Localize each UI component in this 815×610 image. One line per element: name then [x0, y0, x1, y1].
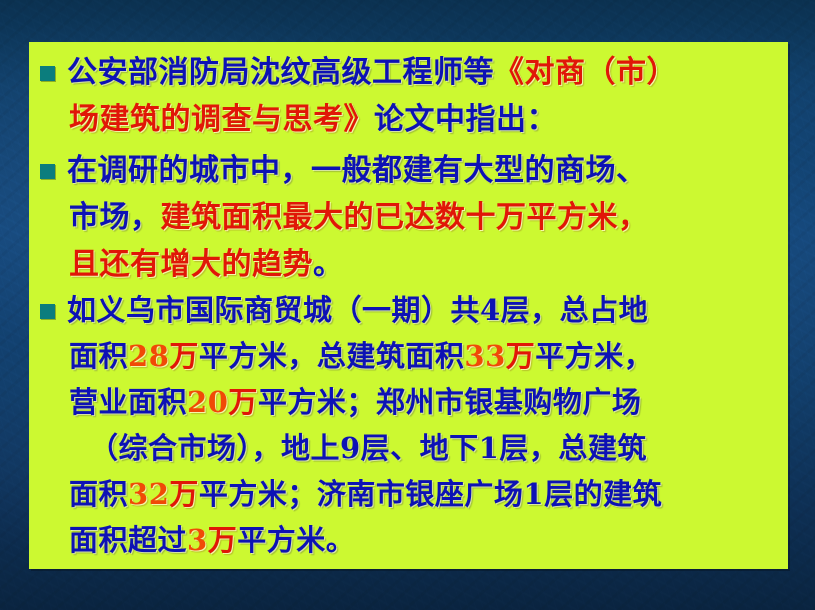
- bullet-paragraph: 公安部消防局沈纹高级工程师等《对商（市）场建筑的调查与思考》论文中指出：: [40, 49, 778, 143]
- paragraph-body: 如义乌市国际商贸城（一期）共4层，总占地面积28万平方米，总建筑面积33万平方米…: [67, 287, 778, 563]
- text-run-blue: 平方米；郑州市银基购物广场: [258, 385, 642, 419]
- paragraph-line: 营业面积20万平方米；郑州市银基购物广场: [67, 379, 778, 425]
- bullet-paragraph: 在调研的城市中，一般都建有大型的商场、市场，建筑面积最大的已达数十万平方米，且还…: [40, 147, 778, 288]
- text-run-orange: 33: [464, 339, 505, 373]
- bullet-paragraph: 如义乌市国际商贸城（一期）共4层，总占地面积28万平方米，总建筑面积33万平方米…: [40, 287, 778, 563]
- text-run-blue: 面积超过: [69, 523, 187, 557]
- paragraph-line: 且还有增大的趋势。: [67, 241, 778, 288]
- text-run-red: 《对商（市）: [494, 55, 677, 90]
- paragraph-line: 如义乌市国际商贸城（一期）共4层，总占地: [67, 287, 778, 333]
- text-run-red: 建筑面积最大的已达数十万平方米，: [161, 200, 649, 235]
- text-run-blue: 公安部消防局沈纹高级工程师等: [67, 55, 494, 90]
- paragraph-line: 面积32万平方米；济南市银座广场1层的建筑: [67, 471, 778, 517]
- paragraph-line: 场建筑的调查与思考》论文中指出：: [67, 96, 778, 143]
- paragraph-line: 在调研的城市中，一般都建有大型的商场、: [67, 147, 778, 194]
- text-run-blue: 平方米，: [535, 339, 653, 373]
- text-run-blue: 平方米；济南市银座广场1层的建筑: [199, 477, 662, 511]
- square-bullet-icon: [40, 164, 55, 179]
- text-run-orange: 32: [128, 477, 169, 511]
- text-run-blue: （综合市场），地上9层、地下1层，总建筑: [89, 431, 647, 465]
- paragraph-line: 面积28万平方米，总建筑面积33万平方米，: [67, 333, 778, 379]
- text-run-blue: 平方米。: [237, 523, 355, 557]
- text-run-red: 场建筑的调查与思考》: [69, 102, 374, 137]
- text-run-blue: 市场，: [69, 200, 161, 235]
- text-run-orange: 3: [187, 523, 208, 557]
- text-run-red: 万: [208, 523, 238, 557]
- text-run-blue: 面积: [69, 477, 128, 511]
- paragraph-body: 在调研的城市中，一般都建有大型的商场、市场，建筑面积最大的已达数十万平方米，且还…: [67, 147, 778, 288]
- text-run-blue: 面积: [69, 339, 128, 373]
- text-run-blue: 。: [313, 247, 344, 282]
- text-run-orange: 28: [128, 339, 169, 373]
- text-run-blue: 在调研的城市中，一般都建有大型的商场、: [67, 153, 647, 188]
- paragraph-body: 公安部消防局沈纹高级工程师等《对商（市）场建筑的调查与思考》论文中指出：: [67, 49, 778, 143]
- slide-content-panel: 公安部消防局沈纹高级工程师等《对商（市）场建筑的调查与思考》论文中指出： 在调研…: [29, 42, 788, 569]
- square-bullet-icon: [40, 304, 55, 319]
- text-run-blue: 如义乌市国际商贸城（一期）共4层，总占地: [67, 293, 648, 327]
- paragraph-line: 市场，建筑面积最大的已达数十万平方米，: [67, 194, 778, 241]
- text-run-orange: 20: [187, 385, 228, 419]
- text-run-blue: 营业面积: [69, 385, 187, 419]
- text-run-red: 万: [169, 477, 199, 511]
- text-run-red: 万: [169, 339, 199, 373]
- paragraph-line: 公安部消防局沈纹高级工程师等《对商（市）: [67, 49, 778, 96]
- square-bullet-icon: [40, 66, 55, 81]
- text-run-red: 且还有增大的趋势: [69, 247, 313, 282]
- paragraph-line: 面积超过3万平方米。: [67, 517, 778, 563]
- text-run-red: 万: [228, 385, 258, 419]
- presentation-slide: 公安部消防局沈纹高级工程师等《对商（市）场建筑的调查与思考》论文中指出： 在调研…: [0, 0, 815, 610]
- text-run-blue: 论文中指出：: [374, 102, 557, 137]
- text-run-red: 万: [506, 339, 536, 373]
- paragraph-line: （综合市场），地上9层、地下1层，总建筑: [67, 425, 778, 471]
- text-run-blue: 平方米，总建筑面积: [199, 339, 465, 373]
